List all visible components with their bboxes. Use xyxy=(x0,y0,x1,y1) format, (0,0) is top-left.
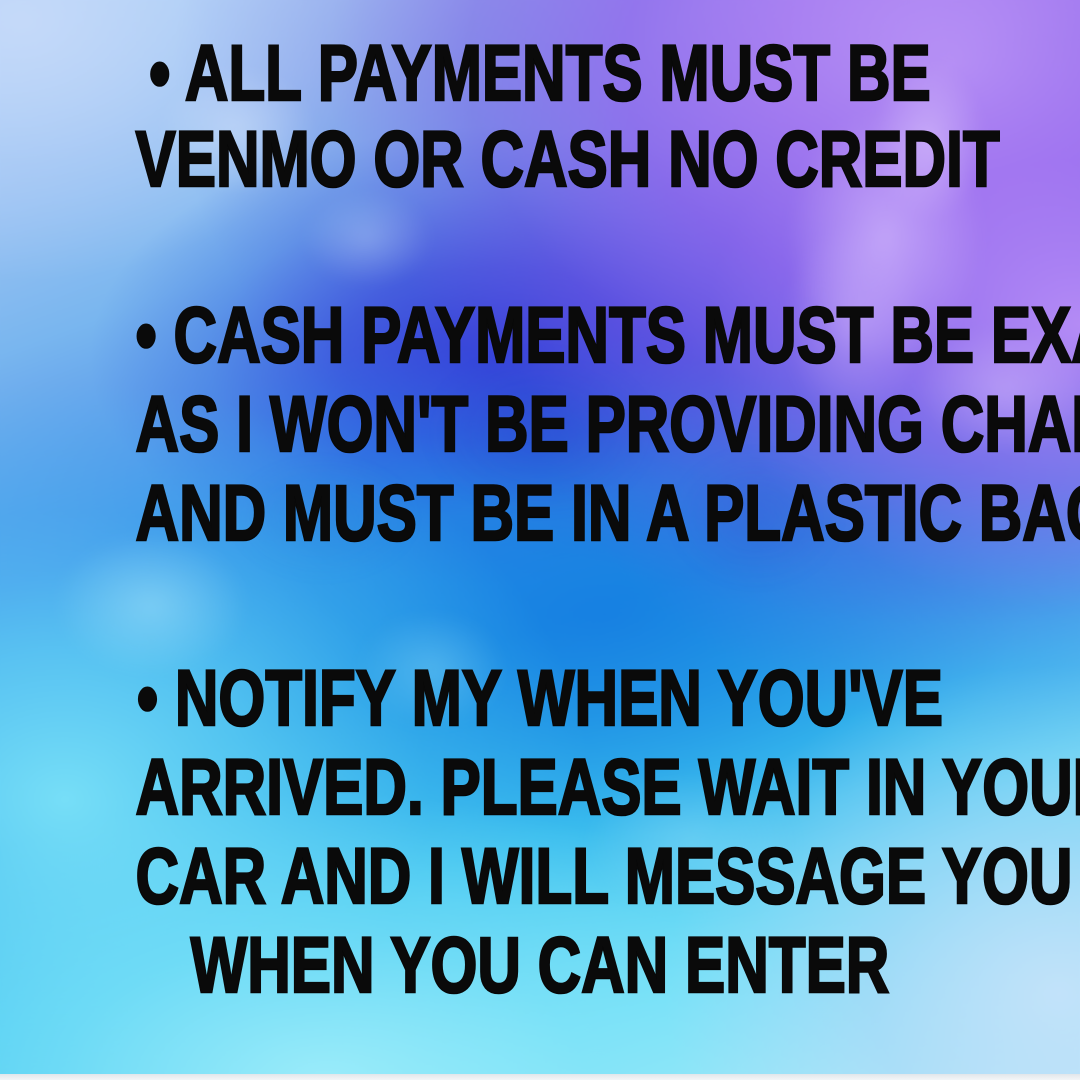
rule-item-notify: • NOTIFY MY WHEN YOU'VE ARRIVED. PLEASE … xyxy=(0,653,1080,1009)
rule-notify-line-2: ARRIVED. PLEASE WAIT IN YOUR xyxy=(136,742,945,831)
rule-payments-line-1: • ALL PAYMENTS MUST BE xyxy=(136,30,945,116)
rule-cash-line-3: AND MUST BE IN A PLASTIC BAG xyxy=(136,468,945,557)
rule-item-payments: • ALL PAYMENTS MUST BE VENMO OR CASH NO … xyxy=(0,30,1080,202)
rules-graphic-canvas: • ALL PAYMENTS MUST BE VENMO OR CASH NO … xyxy=(0,0,1080,1080)
bottom-edge-strip xyxy=(0,1074,1080,1080)
rule-payments-line-2: VENMO OR CASH NO CREDIT xyxy=(136,116,945,202)
rules-list: • ALL PAYMENTS MUST BE VENMO OR CASH NO … xyxy=(0,0,1080,1080)
rule-notify-line-3: CAR AND I WILL MESSAGE YOU xyxy=(136,831,945,920)
rule-notify-line-4: WHEN YOU CAN ENTER xyxy=(136,920,945,1009)
rule-cash-line-2: AS I WON'T BE PROVIDING CHANGE xyxy=(136,379,945,468)
rule-notify-line-1: • NOTIFY MY WHEN YOU'VE xyxy=(136,653,945,742)
rule-item-cash: • CASH PAYMENTS MUST BE EXACT AS I WON'T… xyxy=(0,290,1080,557)
rule-cash-line-1: • CASH PAYMENTS MUST BE EXACT xyxy=(136,290,945,379)
